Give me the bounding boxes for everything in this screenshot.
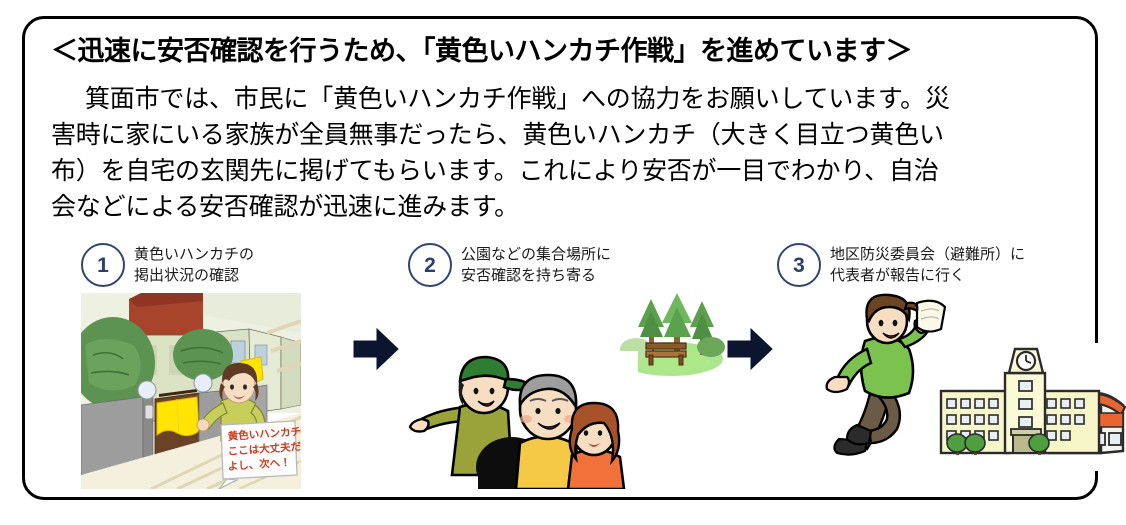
step-1-caption-line-2: 掲出状況の確認 bbox=[134, 265, 254, 286]
step-1-number-badge: 1 bbox=[81, 243, 125, 287]
step-2: 2 公園などの集合場所に 安否確認を持ち寄る bbox=[408, 231, 738, 499]
step-3-caption-line-1: 地区防災委員会（避難所）に bbox=[830, 244, 1025, 265]
step-1-header: 1 黄色いハンカチの 掲出状況の確認 bbox=[81, 243, 254, 287]
step-3-number-badge: 3 bbox=[777, 243, 821, 287]
step-1: 1 黄色いハンカチの 掲出状況の確認 bbox=[81, 231, 367, 499]
step-3-caption: 地区防災委員会（避難所）に 代表者が報告に行く bbox=[830, 244, 1025, 286]
step-1-illustration: 黄色いハンカチ！ ここは大丈夫だ よし、次へ！ bbox=[81, 293, 301, 489]
step-2-number-badge: 2 bbox=[408, 243, 452, 287]
body-line-2: 害時に家にいる家族が全員無事だったら、黄色いハンカチ（大きく目立つ黄色い bbox=[51, 117, 1071, 153]
step-3-caption-line-2: 代表者が報告に行く bbox=[830, 265, 1025, 286]
step-2-caption: 公園などの集合場所に 安否確認を持ち寄る bbox=[461, 244, 611, 286]
body-paragraph: 箕面市では、市民に「黄色いハンカチ作戦」への協力をお願いしています。災 害時に家… bbox=[51, 81, 1071, 225]
step-2-caption-line-2: 安否確認を持ち寄る bbox=[461, 265, 611, 286]
step-3-runner-illustration bbox=[813, 293, 953, 473]
step-2-header: 2 公園などの集合場所に 安否確認を持ち寄る bbox=[408, 243, 611, 287]
arrow-step2-to-step3-icon bbox=[727, 327, 773, 371]
poster-frame: ＜迅速に安否確認を行うため、「黄色いハンカチ作戦」を進めています＞ 箕面市では、… bbox=[22, 16, 1098, 500]
body-line-3: 布）を自宅の玄関先に掲げてもらいます。これにより安否が一目でわかり、自治 bbox=[51, 153, 1071, 189]
page-title: ＜迅速に安否確認を行うため、「黄色いハンカチ作戦」を進めています＞ bbox=[51, 37, 912, 67]
body-line-4: 会などによる安否確認が迅速に進みます。 bbox=[51, 189, 1071, 225]
step-1-caption: 黄色いハンカチの 掲出状況の確認 bbox=[134, 244, 254, 286]
step-2-caption-line-1: 公園などの集合場所に bbox=[461, 244, 611, 265]
person-woman bbox=[568, 403, 624, 489]
step-3-header: 3 地区防災委員会（避難所）に 代表者が報告に行く bbox=[777, 243, 1025, 287]
body-line-1: 箕面市では、市民に「黄色いハンカチ作戦」への協力をお願いしています。災 bbox=[51, 81, 1071, 117]
arrow-step1-to-step2-icon bbox=[353, 327, 399, 371]
step-2-people-illustration bbox=[408, 351, 638, 489]
step-3-school-illustration bbox=[937, 343, 1126, 471]
steps-row: 1 黄色いハンカチの 掲出状況の確認 bbox=[25, 231, 1095, 499]
step-3: 3 地区防災委員会（避難所）に 代表者が報告に行く bbox=[777, 231, 1126, 499]
step-1-caption-line-1: 黄色いハンカチの bbox=[134, 244, 254, 265]
